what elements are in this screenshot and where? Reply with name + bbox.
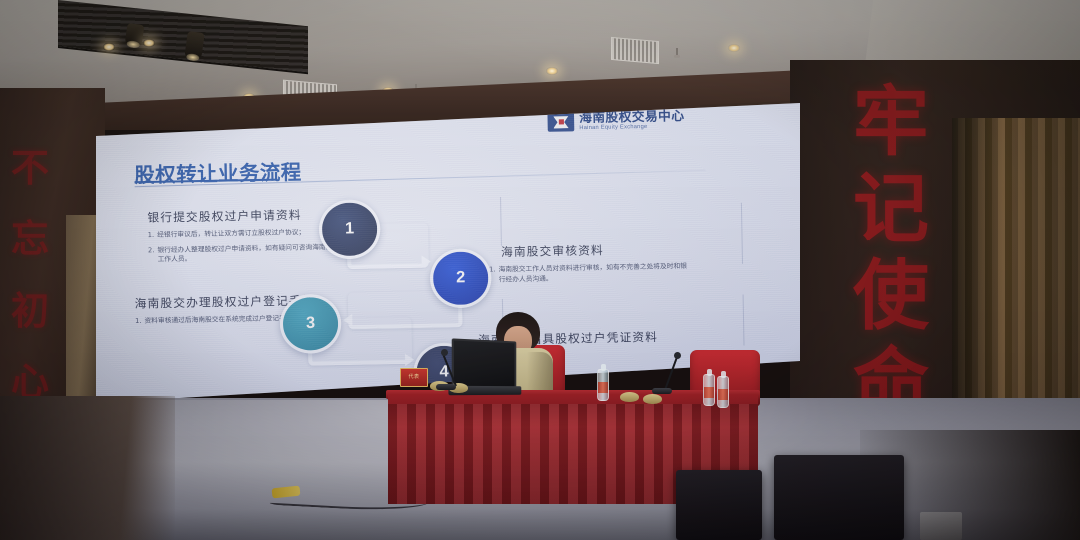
connector-arrow-1-to-2 [422,255,431,267]
left-wall-wood-panel [66,215,100,410]
step-1-item-2-text: 银行经办人整理股权过户申请资料，如有疑问可咨询海南股交工作人员。 [157,242,340,265]
pa-speaker-left [676,470,762,540]
tea-cup [620,392,639,402]
desk-nameplate: 代表 [400,368,428,387]
microphone-head-icon [441,349,448,356]
stage-left-shadow [0,396,175,540]
step-block-1: 银行提交股权过户申请资料 1. 经银行审议后，转让让双方需订立股权过户协议； 2… [147,206,340,265]
ceiling-air-vent [611,37,659,64]
water-bottle [703,374,715,406]
calligraphy-left-char-4: 心 [11,364,49,400]
step-3-item-1-number: 1. [135,317,142,327]
calligraphy-right-char-2: 记 [853,175,929,243]
logo-text: 海南股权交易中心 Hainan Equity Exchange [579,110,685,132]
water-bottle-label [704,387,714,398]
water-bottle [597,369,609,401]
sprinkler-head-icon [676,48,678,56]
ceiling-downlight-icon [546,67,558,75]
calligraphy-left: 不 忘 初 心 [8,150,52,400]
step-1-item-1-text: 经银行审议后，转让让双方需订立股权过户协议； [157,228,305,240]
presentation-hall-photo: 不 忘 初 心 牢 记 使 命 海南股权交易中心 Hainan Equity E… [0,0,1080,540]
step-1-item-2: 2. 银行经办人整理股权过户申请资料，如有疑问可咨询海南股交工作人员。 [148,242,340,265]
step-1-item-1: 1. 经银行审议后，转让让双方需订立股权过户协议； [148,227,340,240]
calligraphy-right-char-3: 使 [853,262,929,330]
connector-arrow-3-to-4 [405,354,414,366]
hainan-equity-logo-icon [547,112,574,132]
calligraphy-left-char-1: 不 [11,150,49,186]
step-2-item-1-text: 海南股交工作人员对资料进行审核，如有不完善之处将及时和银行经办人员沟通。 [499,262,694,285]
desk-nameplate-text: 代表 [401,373,427,380]
step-1-item-2-number: 2. [148,246,155,266]
slide-divider [500,197,502,246]
ceiling-downlight-icon [103,43,115,51]
step-1-item-1-number: 1. [148,231,155,241]
logo-english-name: Hainan Equity Exchange [579,124,684,132]
stage-spotlight-icon [125,23,145,47]
step-3-item-1-text: 资料审核通过后海南股交在系统完成过户登记手续。 [144,314,299,327]
calligraphy-left-char-2: 忘 [11,221,49,257]
calligraphy-right-char-1: 牢 [853,88,929,156]
step-2-item-1: 1. 海南股交工作人员对资料进行审核，如有不完善之处将及时和银行经办人员沟通。 [489,262,693,285]
step-1-heading: 银行提交股权过户申请资料 [147,206,339,226]
microphone-head-icon [674,352,681,359]
microphone-base [436,384,456,390]
water-bottle [717,376,729,408]
speaker-stand-box [920,512,962,540]
right-curtain-shading [952,118,1080,420]
ceiling-downlight-icon [728,44,740,52]
water-bottle-label [598,382,608,393]
slide-divider [743,295,745,346]
step-block-2: 海南股交审核资料 1. 海南股交工作人员对资料进行审核，如有不完善之处将及时和银… [489,240,694,285]
microphone-base [652,388,672,394]
step-2-heading: 海南股交审核资料 [501,240,693,260]
pa-speaker-right [774,455,904,540]
calligraphy-left-char-3: 初 [11,293,49,329]
tea-cup [643,394,662,404]
calligraphy-right: 牢 记 使 命 [845,88,937,418]
slide-divider [741,203,743,264]
ceiling-downlight-icon [143,39,155,47]
water-bottle-label [718,389,728,400]
flow-node-2[interactable]: 2 [430,248,492,308]
